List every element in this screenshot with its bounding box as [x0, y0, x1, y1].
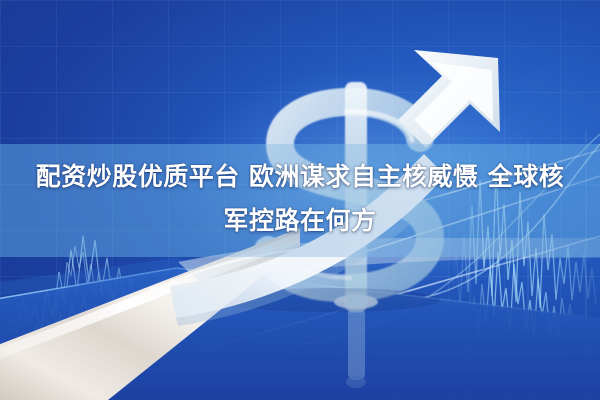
page-title: 配资炒股优质平台 欧洲谋求自主核威慑 全球核 军控路在何方 [0, 155, 600, 243]
banner-image: 配资炒股优质平台 欧洲谋求自主核威慑 全球核 军控路在何方 [0, 0, 600, 400]
